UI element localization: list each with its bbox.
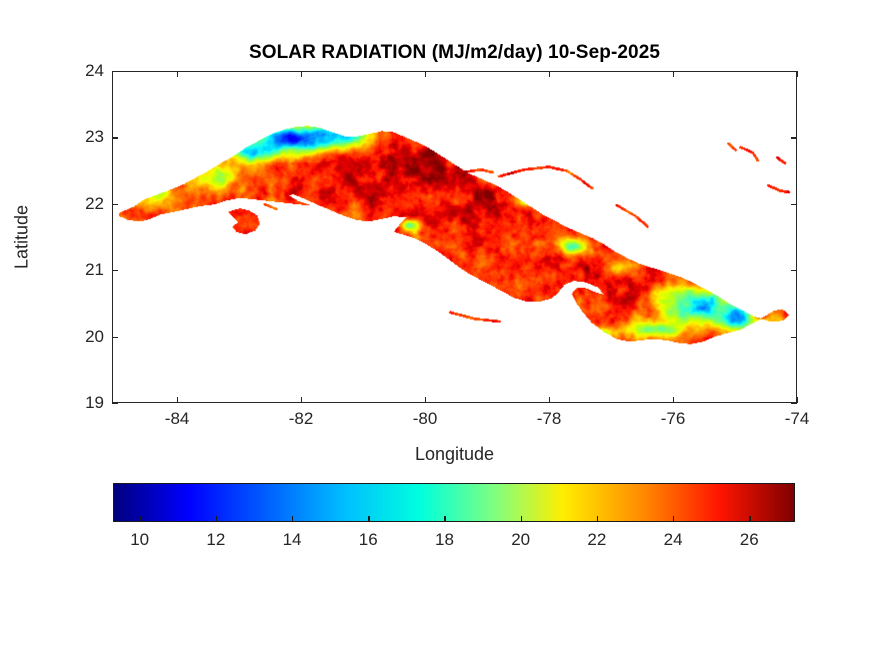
x-axis-tick [673, 71, 674, 77]
x-axis-label: Longitude [112, 444, 797, 465]
colorbar-tick-label: 18 [435, 530, 454, 550]
colorbar-tick-label: 10 [130, 530, 149, 550]
colorbar-tick [368, 516, 369, 522]
colorbar-tick-label: 24 [664, 530, 683, 550]
colorbar-tick [673, 516, 674, 522]
y-axis-tick [791, 137, 797, 138]
y-axis-tick-label: 21 [85, 260, 104, 280]
x-axis-tick [549, 397, 550, 403]
x-axis-tick-label: -76 [661, 409, 686, 429]
y-axis-tick-label: 24 [85, 61, 104, 81]
y-axis-tick [791, 403, 797, 404]
x-axis-tick-label: -74 [785, 409, 810, 429]
y-axis-tick-label: 22 [85, 194, 104, 214]
colorbar-tick [521, 516, 522, 522]
x-axis-tick [673, 397, 674, 403]
colorbar-tick [292, 516, 293, 522]
colorbar-tick-label: 22 [587, 530, 606, 550]
x-axis-tick [797, 71, 798, 77]
x-axis-tick [177, 397, 178, 403]
map-axes[interactable] [112, 71, 797, 403]
y-axis-tick [112, 71, 118, 72]
y-axis-tick [791, 204, 797, 205]
x-axis-tick [425, 397, 426, 403]
y-axis-tick [112, 337, 118, 338]
colorbar-tick [216, 516, 217, 522]
y-axis-tick-label: 23 [85, 127, 104, 147]
colorbar-tick [749, 516, 750, 522]
y-axis-tick-label: 19 [85, 393, 104, 413]
x-axis-tick-label: -80 [413, 409, 438, 429]
solar-radiation-figure: SOLAR RADIATION (MJ/m2/day) 10-Sep-2025 … [0, 0, 875, 656]
y-axis-label: Latitude [12, 205, 33, 269]
y-axis-tick [112, 270, 118, 271]
x-axis-tick-label: -84 [165, 409, 190, 429]
colorbar-tick-label: 26 [740, 530, 759, 550]
y-axis-tick [791, 71, 797, 72]
x-axis-tick-label: -82 [289, 409, 314, 429]
colorbar-tick [597, 516, 598, 522]
colorbar-tick-label: 20 [511, 530, 530, 550]
y-axis-tick [112, 204, 118, 205]
colorbar-tick [140, 516, 141, 522]
y-axis-tick [112, 137, 118, 138]
x-axis-tick [425, 71, 426, 77]
page-title: SOLAR RADIATION (MJ/m2/day) 10-Sep-2025 [112, 42, 797, 64]
y-axis-tick [112, 403, 118, 404]
colorbar-tick-label: 16 [359, 530, 378, 550]
colorbar[interactable] [113, 483, 795, 522]
y-axis-tick-label: 20 [85, 327, 104, 347]
colorbar-tick [444, 516, 445, 522]
colorbar-tick-label: 14 [283, 530, 302, 550]
x-axis-tick [797, 397, 798, 403]
x-axis-tick [301, 71, 302, 77]
x-axis-tick-label: -78 [537, 409, 562, 429]
y-axis-tick [791, 270, 797, 271]
solar-radiation-heatmap [113, 72, 796, 402]
x-axis-tick [177, 71, 178, 77]
x-axis-tick [549, 71, 550, 77]
x-axis-tick [301, 397, 302, 403]
colorbar-tick-label: 12 [206, 530, 225, 550]
y-axis-tick [791, 337, 797, 338]
